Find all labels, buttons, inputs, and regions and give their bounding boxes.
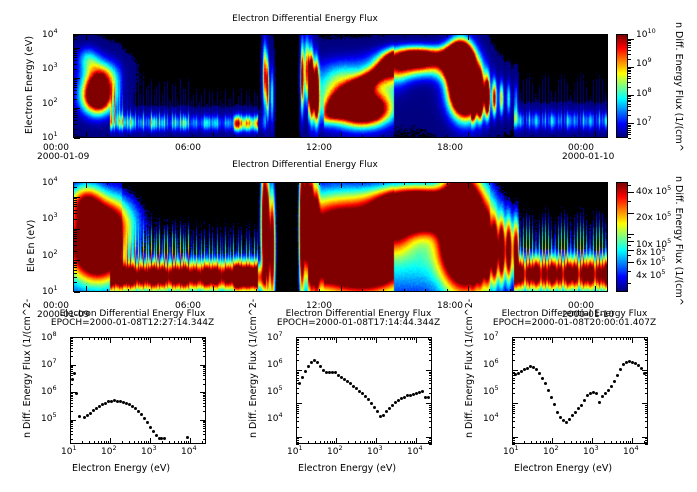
panel1-xtick-1800: 18:00 <box>437 143 463 153</box>
tick-mark <box>628 250 631 251</box>
panel5-epoch: EPOCH=2000-01-08T20:00:01.407Z <box>462 318 687 328</box>
tick-mark <box>628 255 631 256</box>
data-point <box>643 372 646 375</box>
panel3-ytick-1e7: 107 <box>41 360 57 370</box>
panel4-ytick-1e5: 105 <box>267 387 283 397</box>
tick-mark <box>628 123 634 124</box>
panel1-xtick-1200: 12:00 <box>306 143 332 153</box>
data-point <box>556 411 559 414</box>
data-point <box>137 410 140 413</box>
data-point <box>580 404 583 407</box>
data-point <box>152 430 155 433</box>
data-point <box>140 413 143 416</box>
panel2-ytick-1e2: 102 <box>42 251 58 261</box>
data-point <box>146 421 149 424</box>
data-point <box>538 372 541 375</box>
tick-mark <box>628 234 634 235</box>
tick-mark <box>74 292 80 293</box>
data-point <box>550 396 553 399</box>
tick-mark <box>628 110 631 111</box>
panel2-cbar-tick-40e5: 40x 105 <box>636 187 671 197</box>
panel3-epoch: EPOCH=2000-01-08T12:27:14.344Z <box>20 318 245 328</box>
panel4-xtick-1e4: 104 <box>407 447 423 457</box>
tick-mark <box>628 250 634 251</box>
data-point <box>574 411 577 414</box>
tick-mark <box>628 192 631 193</box>
data-point <box>373 406 376 409</box>
panel1-ytick-1e1: 101 <box>42 133 58 143</box>
data-point <box>134 407 137 410</box>
tick-mark <box>628 39 634 40</box>
data-point <box>78 415 81 418</box>
tick-mark <box>628 132 631 133</box>
panel5-ytick-1e6: 106 <box>483 360 499 370</box>
panel4-xtick-1e2: 102 <box>327 447 343 457</box>
data-point <box>370 402 373 405</box>
data-point <box>577 407 580 410</box>
panel1-cbar-tick-1e8: 108 <box>636 89 652 99</box>
tick-mark <box>628 262 631 263</box>
tick-mark <box>628 271 631 272</box>
tick-mark <box>628 73 631 74</box>
data-point <box>640 367 643 370</box>
data-point <box>427 396 430 399</box>
data-point <box>586 394 589 397</box>
data-point <box>610 385 613 388</box>
tick-mark <box>628 192 634 193</box>
panel1-ytick-1e3: 103 <box>42 64 58 74</box>
tick-mark <box>628 106 631 107</box>
tick-mark <box>628 87 631 88</box>
data-point <box>571 414 574 417</box>
data-point <box>385 410 388 413</box>
data-point <box>86 414 89 417</box>
panel5-data-points <box>512 337 648 444</box>
data-point <box>149 426 152 429</box>
tick-mark <box>628 104 631 105</box>
tick-mark <box>628 101 631 102</box>
tick-mark <box>628 126 631 127</box>
data-point <box>598 401 601 404</box>
tick-mark <box>628 201 631 202</box>
tick-mark <box>628 100 631 101</box>
data-point <box>544 382 547 385</box>
tick-mark <box>628 47 631 48</box>
data-point <box>298 382 301 385</box>
data-point <box>613 380 616 383</box>
panel1-cbar-tick-1e7: 107 <box>636 118 652 128</box>
panel5-xlabel: Electron Energy (eV) <box>514 463 612 474</box>
tick-mark <box>628 59 631 60</box>
data-point <box>565 421 568 424</box>
data-point <box>310 361 313 364</box>
panel2-cbar-tick-4e5: 4x 105 <box>636 271 666 281</box>
panel1-ytick-1e2: 102 <box>42 99 58 109</box>
data-point <box>388 407 391 410</box>
data-point <box>595 392 598 395</box>
panel5-xtick-1e2: 102 <box>543 447 559 457</box>
data-point <box>619 368 622 371</box>
panel3-xtick-1e4: 104 <box>181 447 197 457</box>
panel4-ylabel: n Diff. Energy Flux (1/(cm^2- <box>248 299 259 438</box>
panel3-xtick-1e2: 102 <box>101 447 117 457</box>
panel1-colorbar-label: n Diff. Energy Flux (1/(cm^ <box>673 22 684 152</box>
tick-mark <box>628 50 631 51</box>
data-point <box>304 370 307 373</box>
tick-mark <box>74 138 80 139</box>
tick-mark <box>628 96 631 97</box>
tick-mark <box>628 283 631 284</box>
panel3-ytick-1e8: 108 <box>41 333 57 343</box>
data-point <box>376 410 379 413</box>
panel4-xtick-1e3: 103 <box>367 447 383 457</box>
panel2-colorbar-label: n Diff. Energy Flux (1/(cm^ <box>673 176 684 306</box>
panel3-ylabel: n Diff. Energy Flux (1/(cm^2- <box>22 299 33 438</box>
panel4-ytick-1e7: 107 <box>267 333 283 343</box>
data-point <box>71 378 74 381</box>
tick-mark <box>628 185 631 186</box>
panel2-ytick-1e1: 101 <box>42 287 58 297</box>
panel3-data-points <box>70 337 206 444</box>
panel5-xtick-1e3: 103 <box>583 447 599 457</box>
data-point <box>547 389 550 392</box>
panel1-spectrogram-image <box>73 34 608 138</box>
tick-mark <box>628 54 631 55</box>
panel5-xtick-1e1: 101 <box>503 447 519 457</box>
data-point <box>382 414 385 417</box>
data-point <box>95 407 98 410</box>
panel3-ytick-1e6: 106 <box>41 387 57 397</box>
tick-mark <box>628 40 631 41</box>
tick-mark <box>628 45 631 46</box>
tick-mark <box>628 95 634 96</box>
tick-mark <box>628 237 631 238</box>
panel2-spectrogram-image <box>73 182 608 292</box>
panel1-ytick-1e4: 104 <box>42 30 58 40</box>
panel1-cbar-tick-1e10: 1010 <box>636 30 656 40</box>
panel3-xlabel: Electron Energy (eV) <box>72 463 170 474</box>
data-point <box>616 374 619 377</box>
panel3-ytick-1e5: 105 <box>41 414 57 424</box>
data-point <box>92 409 95 412</box>
panel4-ytick-1e6: 106 <box>267 360 283 370</box>
tick-mark <box>628 130 631 131</box>
tick-mark <box>628 42 631 43</box>
panel1-cbar-tick-1e9: 109 <box>636 59 652 69</box>
tick-mark <box>628 68 631 69</box>
tick-mark <box>628 70 631 71</box>
panel1-xtick-0600: 06:00 <box>175 143 201 153</box>
panel1-colorbar <box>616 34 628 138</box>
tick-mark <box>429 444 432 445</box>
data-point <box>301 376 304 379</box>
data-point <box>535 368 538 371</box>
panel4-ytick-1e4: 104 <box>267 414 283 424</box>
tick-mark <box>628 115 631 116</box>
data-point <box>163 437 166 440</box>
panel5-ytick-1e7: 107 <box>483 333 499 343</box>
data-point <box>319 365 322 368</box>
tick-mark <box>628 82 631 83</box>
tick-mark <box>628 98 631 99</box>
data-point <box>601 395 604 398</box>
data-point <box>75 392 78 395</box>
panel3-xtick-1e1: 101 <box>61 447 77 457</box>
data-point <box>334 371 337 374</box>
panel4-xlabel: Electron Energy (eV) <box>298 463 396 474</box>
tick-mark <box>628 134 631 135</box>
tick-mark <box>628 241 634 242</box>
data-point <box>186 436 189 439</box>
panel2-ytick-1e4: 104 <box>42 178 58 188</box>
panel1-title: Electron Differential Energy Flux <box>0 14 610 24</box>
data-point <box>143 417 146 420</box>
data-point <box>155 434 158 437</box>
data-point <box>316 361 319 364</box>
tick-mark <box>628 78 631 79</box>
tick-mark <box>628 71 631 72</box>
panel4-data-points <box>296 337 432 444</box>
tick-mark <box>628 213 631 214</box>
panel2-title: Electron Differential Energy Flux <box>0 160 610 170</box>
tick-mark <box>628 262 634 263</box>
tick-mark <box>628 241 631 242</box>
panel5-xtick-1e4: 104 <box>623 447 639 457</box>
tick-mark <box>628 138 631 139</box>
panel5-ylabel: n Diff. Energy Flux (1/(cm^2- <box>464 299 475 438</box>
data-point <box>604 392 607 395</box>
data-point <box>607 389 610 392</box>
data-point <box>583 399 586 402</box>
data-point <box>622 363 625 366</box>
panel4-epoch: EPOCH=2000-01-08T17:14:44.344Z <box>246 318 471 328</box>
data-point <box>73 372 76 375</box>
panel5-ytick-1e4: 104 <box>483 414 499 424</box>
panel5-ytick-1e5: 105 <box>483 387 499 397</box>
tick-mark <box>628 67 634 68</box>
data-point <box>568 418 571 421</box>
panel2-ytick-1e3: 103 <box>42 214 58 224</box>
data-point <box>391 404 394 407</box>
data-point <box>307 365 310 368</box>
data-point <box>89 412 92 415</box>
tick-mark <box>628 128 631 129</box>
tick-mark <box>628 43 631 44</box>
panel4-xtick-1e1: 101 <box>287 447 303 457</box>
data-point <box>553 403 556 406</box>
panel2-ylabel: Ele En (eV) <box>26 220 37 272</box>
tick-mark <box>628 125 631 126</box>
panel1-ylabel: Electron Energy (eV) <box>24 36 35 134</box>
panel2-cbar-tick-20e5: 20x 105 <box>636 213 671 223</box>
panel2-cbar-tick-6e5: 6x 105 <box>636 258 666 268</box>
data-point <box>541 377 544 380</box>
tick-mark <box>645 444 648 445</box>
tick-mark <box>628 76 631 77</box>
panel2-colorbar <box>616 182 628 292</box>
tick-mark <box>628 213 634 214</box>
data-point <box>367 398 370 401</box>
tick-mark <box>628 245 631 246</box>
panel3-xtick-1e3: 103 <box>141 447 157 457</box>
data-point <box>421 390 424 393</box>
